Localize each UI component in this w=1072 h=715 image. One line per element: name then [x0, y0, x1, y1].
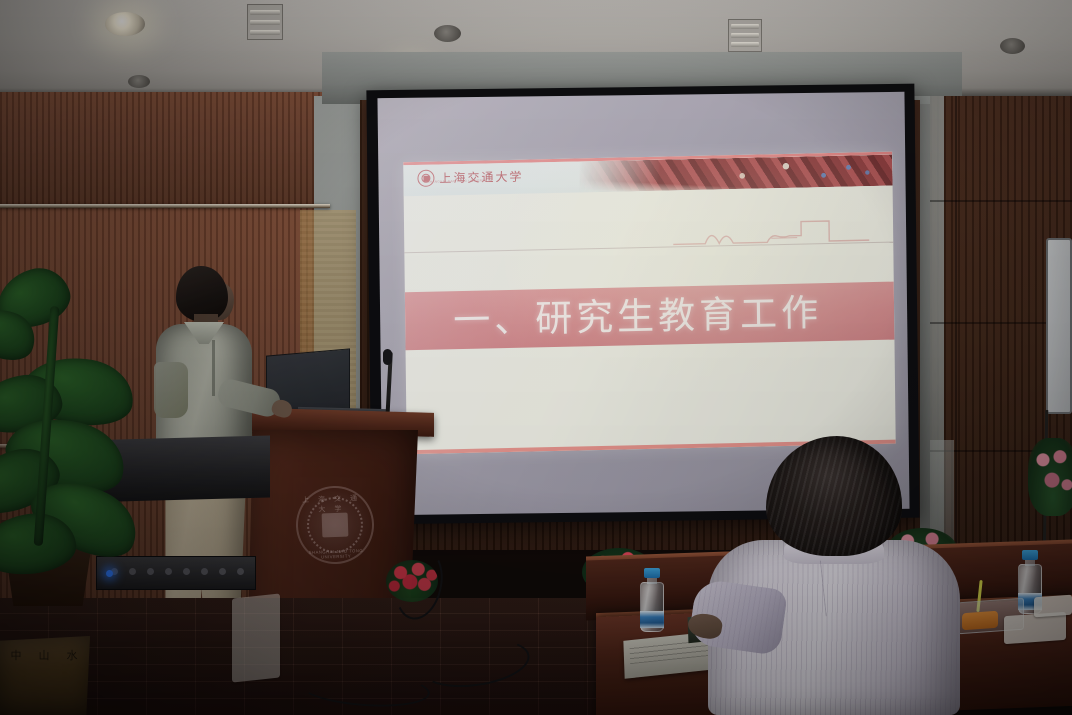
box-char-2: 山 [39, 650, 50, 663]
sjtu-gate-line-art-icon [671, 214, 871, 246]
sjtu-seal-icon [417, 170, 434, 187]
sjtu-podium-emblem-icon: 上海交通大学 SHANGHAI JIAO TONG UNIVERSITY [295, 485, 376, 566]
flower-arrangement-far-right [1028, 438, 1072, 516]
seated-attendee [692, 436, 960, 715]
slide-divider-line [404, 242, 893, 254]
header-banner-image [579, 155, 892, 193]
louver-light-1 [247, 4, 283, 40]
bottle-label [640, 611, 664, 628]
presentation-slide: 上海交通大学 SHANGHAI JIAO TONG UNIVERSITY 一、研… [403, 152, 895, 455]
bottle-cap [644, 568, 660, 578]
bottle-cap [1022, 550, 1038, 560]
downlight-2 [434, 25, 461, 42]
wall-panel-left-upper [0, 92, 322, 210]
sjtu-logo: 上海交通大学 [417, 168, 523, 187]
box-char-1: 中 [11, 650, 22, 663]
orange-fruit [962, 611, 998, 631]
presenter-sleeve [154, 362, 188, 418]
cardboard-box: 中 山 水 [0, 636, 90, 715]
microphone-icon [383, 349, 392, 365]
conference-room-photo: 上海交通大学 SHANGHAI JIAO TONG UNIVERSITY 一、研… [0, 0, 1072, 715]
floor-paper [232, 593, 280, 682]
attendee-head [766, 436, 902, 556]
slide-title-band: 一、研究生教育工作 [405, 282, 895, 351]
louver-light-2 [728, 19, 762, 52]
napkin-2[interactable] [1034, 595, 1072, 618]
downlight-4 [1000, 38, 1025, 54]
downlight-5 [128, 75, 150, 88]
wall-trim-upper [0, 204, 330, 208]
flower-arrangement-left [386, 560, 438, 602]
whiteboard [1046, 238, 1072, 414]
podium-emblem-chinese: 上海交通大学 [297, 493, 372, 516]
cardboard-box-text: 中 山 水 [2, 650, 86, 663]
slide-title: 一、研究生教育工作 [405, 294, 822, 340]
potted-plant [0, 270, 146, 600]
box-char-3: 水 [67, 650, 78, 663]
wall-seam-2 [930, 200, 1072, 202]
presenter-shirt-placket [212, 340, 215, 396]
downlight-1 [105, 12, 145, 36]
water-bottle-center[interactable] [640, 568, 664, 632]
